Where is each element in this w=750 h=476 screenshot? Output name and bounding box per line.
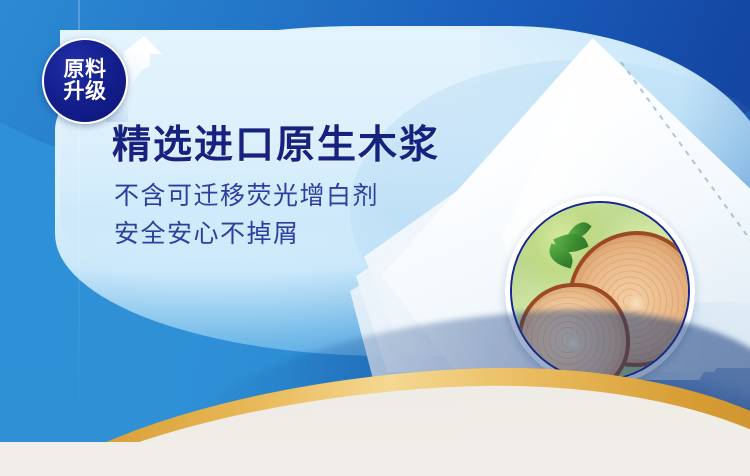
product-feature-banner: 原料 升级 精选进口原生木浆 不含可迁移荧光增白剂 安全安心不掉屑 xyxy=(0,0,750,476)
badge-line-2: 升级 xyxy=(64,81,107,103)
cream-base-fill xyxy=(0,442,750,476)
upgrade-badge: 原料 升级 xyxy=(42,32,192,124)
subline-1: 不含可迁移荧光增白剂 xyxy=(114,184,379,209)
badge-line-1: 原料 xyxy=(64,59,107,81)
large-log-core xyxy=(627,295,645,311)
subline-2: 安全安心不掉屑 xyxy=(114,222,300,247)
upgrade-badge-circle: 原料 升级 xyxy=(42,38,128,124)
headline: 精选进口原生木浆 xyxy=(112,126,440,165)
